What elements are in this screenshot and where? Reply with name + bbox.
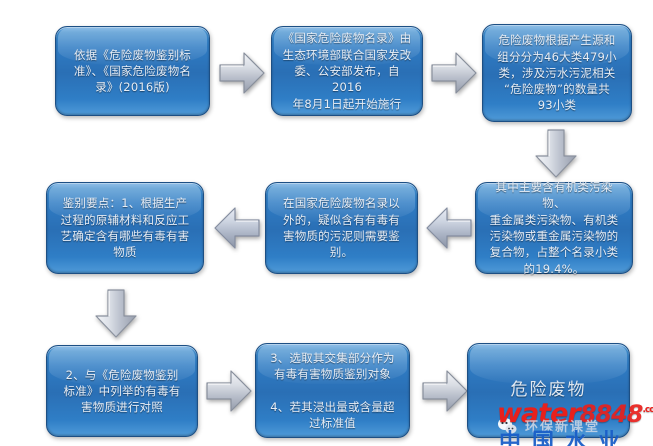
arrow-n6-to-n7 — [93, 288, 139, 340]
flowchart-canvas: 依据《危险废物鉴别标 准》、《国家危险废物名 录》(2016版) 《国家危险废物… — [0, 0, 653, 446]
watermark-brand-tld: .com — [643, 405, 653, 415]
node-category-counts: 危险废物根据产生源和 组分分为46大类479小 类，涉及污水污泥相关 “危险废物… — [482, 24, 632, 122]
node-identification-point-2-text: 2、与《危险废物鉴别 标准》中列举的有毒有 害物质进行对照 — [64, 367, 181, 416]
node-identification-point-3-4-text: 3、选取其交集部分作为 有毒有害物质鉴别对象 4、若其浸出量或含量超 过标准值 — [270, 350, 395, 432]
arrow-n3-to-n4 — [533, 128, 579, 180]
node-identification-point-3-4: 3、选取其交集部分作为 有毒有害物质鉴别对象 4、若其浸出量或含量超 过标准值 — [255, 343, 410, 438]
node-result-hazardous-waste-text: 危险废物 — [511, 378, 587, 402]
arrow-n4-to-n5 — [425, 205, 473, 251]
node-pollutant-composition-text: 其中主要含有机类污染物、 重金属类污染物、有机类 污染物或重金属污染物的 复合物… — [485, 179, 623, 277]
node-catalog-issuance-text: 《国家危险废物名录》由 生态环境部联合国家发改 委、公安部发布，自2016 年8… — [281, 30, 413, 112]
node-outside-catalog-identification: 在国家危险废物名录以 外的，疑似含有有毒有 害物质的污泥则需要鉴 别。 — [265, 182, 418, 274]
arrow-n8-to-n9 — [421, 368, 469, 414]
arrow-n2-to-n3 — [430, 50, 478, 96]
node-identification-point-1: 鉴别要点：1、根据生产 过程的原辅材料和反应工 艺确定含有哪些有毒有害 物质 — [46, 182, 204, 274]
node-outside-catalog-identification-text: 在国家危险废物名录以 外的，疑似含有有毒有 害物质的污泥则需要鉴 别。 — [283, 195, 400, 260]
node-basis-standards: 依据《危险废物鉴别标 准》、《国家危险废物名 录》(2016版) — [55, 26, 210, 116]
node-identification-point-1-text: 鉴别要点：1、根据生产 过程的原辅材料和反应工 艺确定含有哪些有毒有害 物质 — [61, 195, 190, 260]
node-result-hazardous-waste: 危险废物 — [467, 343, 630, 438]
node-pollutant-composition: 其中主要含有机类污染物、 重金属类污染物、有机类 污染物或重金属污染物的 复合物… — [475, 182, 633, 274]
node-basis-standards-text: 依据《危险废物鉴别标 准》、《国家危险废物名 录》(2016版) — [74, 47, 191, 96]
arrow-n7-to-n8 — [205, 368, 253, 414]
node-catalog-issuance: 《国家危险废物名录》由 生态环境部联合国家发改 委、公安部发布，自2016 年8… — [271, 26, 423, 116]
node-identification-point-2: 2、与《危险废物鉴别 标准》中列举的有毒有 害物质进行对照 — [46, 345, 198, 437]
node-category-counts-text: 危险废物根据产生源和 组分分为46大类479小 类，涉及污水污泥相关 “危险废物… — [497, 32, 616, 114]
arrow-n1-to-n2 — [218, 50, 266, 96]
arrow-n5-to-n6 — [213, 205, 261, 251]
